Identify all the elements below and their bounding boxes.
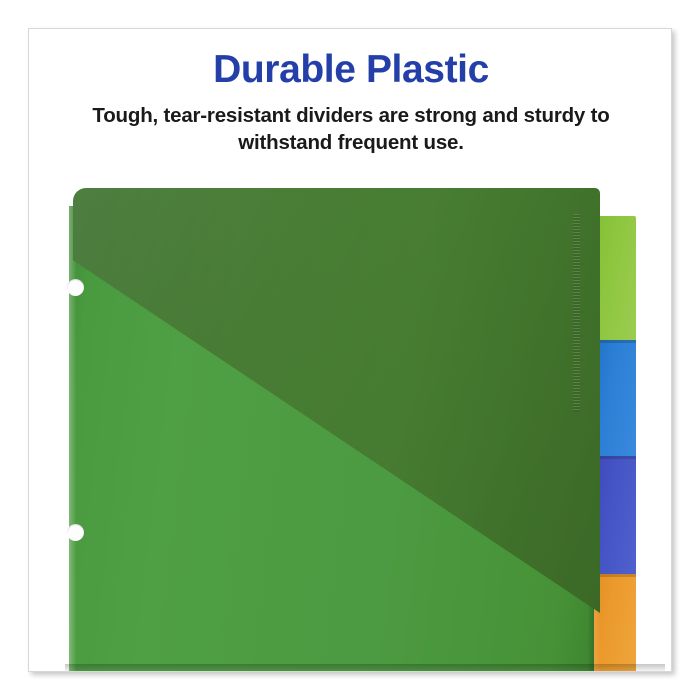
upper-punch-hole <box>67 279 84 296</box>
page-title: Durable Plastic <box>29 47 672 93</box>
product-photo <box>29 176 672 672</box>
image-frame: Durable Plastic Tough, tear-resistant di… <box>28 28 672 672</box>
sheet-left-edge <box>69 206 76 672</box>
product-marketing-image: Durable Plastic Tough, tear-resistant di… <box>0 0 700 700</box>
page-subtitle: Tough, tear-resistant dividers are stron… <box>63 102 639 156</box>
headline-block: Durable Plastic Tough, tear-resistant di… <box>29 47 672 156</box>
lower-punch-hole <box>67 524 84 541</box>
flap-ridge-texture <box>573 214 580 412</box>
product-contact-shadow <box>65 664 665 672</box>
